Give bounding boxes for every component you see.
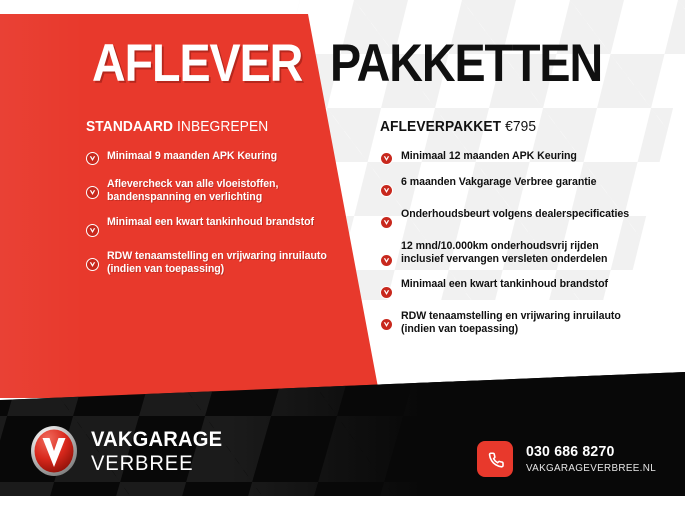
list-item: Minimaal een kwart tankinhoud brandstof [380, 278, 642, 299]
v-check-badge-icon [380, 216, 393, 229]
v-check-badge-icon [86, 152, 99, 165]
column-standaard-title-strong: STANDAARD [86, 119, 173, 135]
v-check-badge-icon [380, 184, 393, 197]
list-item: Onderhoudsbeurt volgens dealerspecificat… [380, 208, 642, 229]
afleverpakket-feature-list: Minimaal 12 maanden APK Keuring 6 maande… [380, 150, 642, 335]
contact-lines: 030 686 8270 VAKGARAGEVERBREE.NL [526, 444, 664, 474]
brand-name-top: VAKGARAGE [91, 429, 222, 450]
list-item: Minimaal 9 maanden APK Keuring [86, 150, 338, 165]
list-item: 6 maanden Vakgarage Verbree garantie [380, 176, 642, 197]
brand-name-bottom: VERBREE [91, 453, 222, 474]
feature-text: Aflevercheck van alle vloeistoffen, band… [107, 178, 338, 203]
feature-text: RDW tenaamstelling en vrijwaring inruila… [107, 250, 338, 275]
vakgarage-v-logo-icon [30, 425, 78, 477]
headline-word-aflever: AFLEVER [92, 36, 302, 92]
poster-canvas: AFLEVER PAKKETTEN STANDAARD INBEGREPEN M… [0, 0, 685, 514]
headline: AFLEVER PAKKETTEN [0, 36, 685, 98]
feature-text: Minimaal een kwart tankinhoud brandstof [401, 278, 608, 291]
feature-text: RDW tenaamstelling en vrijwaring inruila… [401, 310, 642, 335]
phone-number[interactable]: 030 686 8270 [526, 444, 656, 459]
column-standaard-title-light: INBEGREPEN [177, 119, 268, 135]
list-item: Aflevercheck van alle vloeistoffen, band… [86, 178, 338, 203]
v-check-badge-icon [380, 286, 393, 299]
column-afleverpakket: AFLEVERPAKKET €795 Minimaal 12 maanden A… [380, 118, 642, 346]
feature-text: Minimaal een kwart tankinhoud brandstof [107, 216, 314, 229]
brand-lockup[interactable]: VAKGARAGE VERBREE [30, 425, 228, 477]
feature-text: Minimaal 12 maanden APK Keuring [401, 150, 577, 163]
feature-text: 12 mnd/10.000km onderhoudsvrij rijden in… [401, 240, 642, 265]
list-item: Minimaal een kwart tankinhoud brandstof [86, 216, 338, 237]
v-check-badge-icon [86, 186, 99, 199]
v-check-badge-icon [380, 318, 393, 331]
contact-block[interactable]: 030 686 8270 VAKGARAGEVERBREE.NL [477, 441, 664, 477]
v-check-badge-icon [380, 152, 393, 165]
column-standaard-title: STANDAARD INBEGREPEN [86, 118, 325, 136]
feature-text: 6 maanden Vakgarage Verbree garantie [401, 176, 596, 189]
headline-word-pakketten: PAKKETTEN [330, 36, 602, 92]
column-afleverpakket-title-strong: AFLEVERPAKKET [380, 119, 501, 135]
website-url[interactable]: VAKGARAGEVERBREE.NL [526, 463, 656, 474]
v-check-badge-icon [86, 224, 99, 237]
standaard-feature-list: Minimaal 9 maanden APK Keuring Afleverch… [86, 150, 338, 275]
column-afleverpakket-price: €795 [505, 119, 536, 135]
brand-text: VAKGARAGE VERBREE [91, 429, 228, 474]
list-item: RDW tenaamstelling en vrijwaring inruila… [86, 250, 338, 275]
list-item: Minimaal 12 maanden APK Keuring [380, 150, 642, 165]
list-item: 12 mnd/10.000km onderhoudsvrij rijden in… [380, 240, 642, 267]
bottom-white-strip [0, 496, 685, 514]
v-check-badge-icon [86, 258, 99, 271]
column-standaard: STANDAARD INBEGREPEN Minimaal 9 maanden … [86, 118, 338, 288]
column-afleverpakket-title: AFLEVERPAKKET €795 [380, 118, 629, 136]
feature-text: Minimaal 9 maanden APK Keuring [107, 150, 277, 163]
list-item: RDW tenaamstelling en vrijwaring inruila… [380, 310, 642, 335]
v-check-badge-icon [380, 254, 393, 267]
feature-text: Onderhoudsbeurt volgens dealerspecificat… [401, 208, 629, 221]
phone-icon[interactable] [477, 441, 513, 477]
